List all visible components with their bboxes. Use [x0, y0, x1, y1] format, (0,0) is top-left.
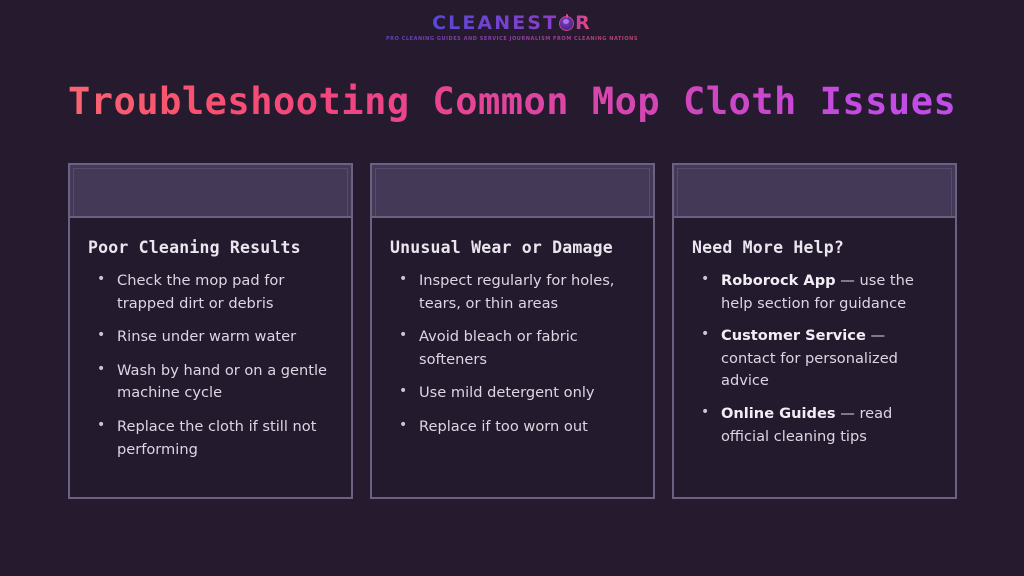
list-item: Roborock App — use the help section for …: [692, 270, 939, 315]
bullet-list: Roborock App — use the help section for …: [692, 270, 939, 448]
list-item: Online Guides — read official cleaning t…: [692, 403, 939, 448]
bullet-text: Use mild detergent only: [419, 384, 595, 401]
list-item: Replace if too worn out: [390, 416, 637, 439]
list-item: Replace the cloth if still not performin…: [88, 416, 335, 461]
list-item: Check the mop pad for trapped dirt or de…: [88, 270, 335, 315]
brand-logo: CLEANEST R Pro Cleaning Guides And Servi…: [0, 14, 1024, 42]
card-body: Unusual Wear or Damage Inspect regularly…: [372, 218, 653, 497]
card-unusual-wear-or-damage: Unusual Wear or Damage Inspect regularly…: [370, 163, 655, 499]
card-heading: Need More Help?: [692, 238, 939, 257]
card-body: Need More Help? Roborock App — use the h…: [674, 218, 955, 497]
page-title: Troubleshooting Common Mop Cloth Issues: [68, 82, 956, 123]
list-item: Wash by hand or on a gentle machine cycl…: [88, 360, 335, 405]
card-need-more-help: Need More Help? Roborock App — use the h…: [672, 163, 957, 499]
bullet-text: Rinse under warm water: [117, 328, 296, 345]
card-heading: Poor Cleaning Results: [88, 238, 335, 257]
card-heading: Unusual Wear or Damage: [390, 238, 637, 257]
brand-tagline: Pro Cleaning Guides And Service Journali…: [386, 36, 638, 42]
bullet-text: Replace the cloth if still not performin…: [117, 418, 316, 458]
bullet-text: Replace if too worn out: [419, 418, 588, 435]
card-poor-cleaning-results: Poor Cleaning Results Check the mop pad …: [68, 163, 353, 499]
brand-logo-wordmark: CLEANEST R: [432, 14, 592, 33]
slide-root: { "brand": { "name_part_a": "CLEANEST", …: [0, 0, 1024, 576]
bullet-list: Inspect regularly for holes, tears, or t…: [390, 270, 637, 439]
list-item: Use mild detergent only: [390, 382, 637, 405]
brand-name-first-part: CLEANEST: [432, 14, 558, 33]
card-grid: Poor Cleaning Results Check the mop pad …: [68, 163, 957, 499]
list-item: Customer Service — contact for personali…: [692, 325, 939, 393]
bullet-lead: Online Guides: [721, 405, 836, 422]
bullet-list: Check the mop pad for trapped dirt or de…: [88, 270, 335, 461]
bullet-text: Check the mop pad for trapped dirt or de…: [117, 272, 284, 312]
card-body: Poor Cleaning Results Check the mop pad …: [70, 218, 351, 497]
bullet-text: Inspect regularly for holes, tears, or t…: [419, 272, 614, 312]
card-header-strip: [70, 165, 351, 218]
card-header-strip: [674, 165, 955, 218]
bullet-text: Wash by hand or on a gentle machine cycl…: [117, 362, 327, 402]
brand-name-second-part: R: [575, 14, 592, 33]
planet-orb-icon: [559, 16, 574, 31]
bullet-lead: Roborock App: [721, 272, 836, 289]
list-item: Rinse under warm water: [88, 326, 335, 349]
card-header-strip: [372, 165, 653, 218]
list-item: Inspect regularly for holes, tears, or t…: [390, 270, 637, 315]
list-item: Avoid bleach or fabric softeners: [390, 326, 637, 371]
bullet-text: Avoid bleach or fabric softeners: [419, 328, 578, 368]
bullet-lead: Customer Service: [721, 327, 866, 344]
